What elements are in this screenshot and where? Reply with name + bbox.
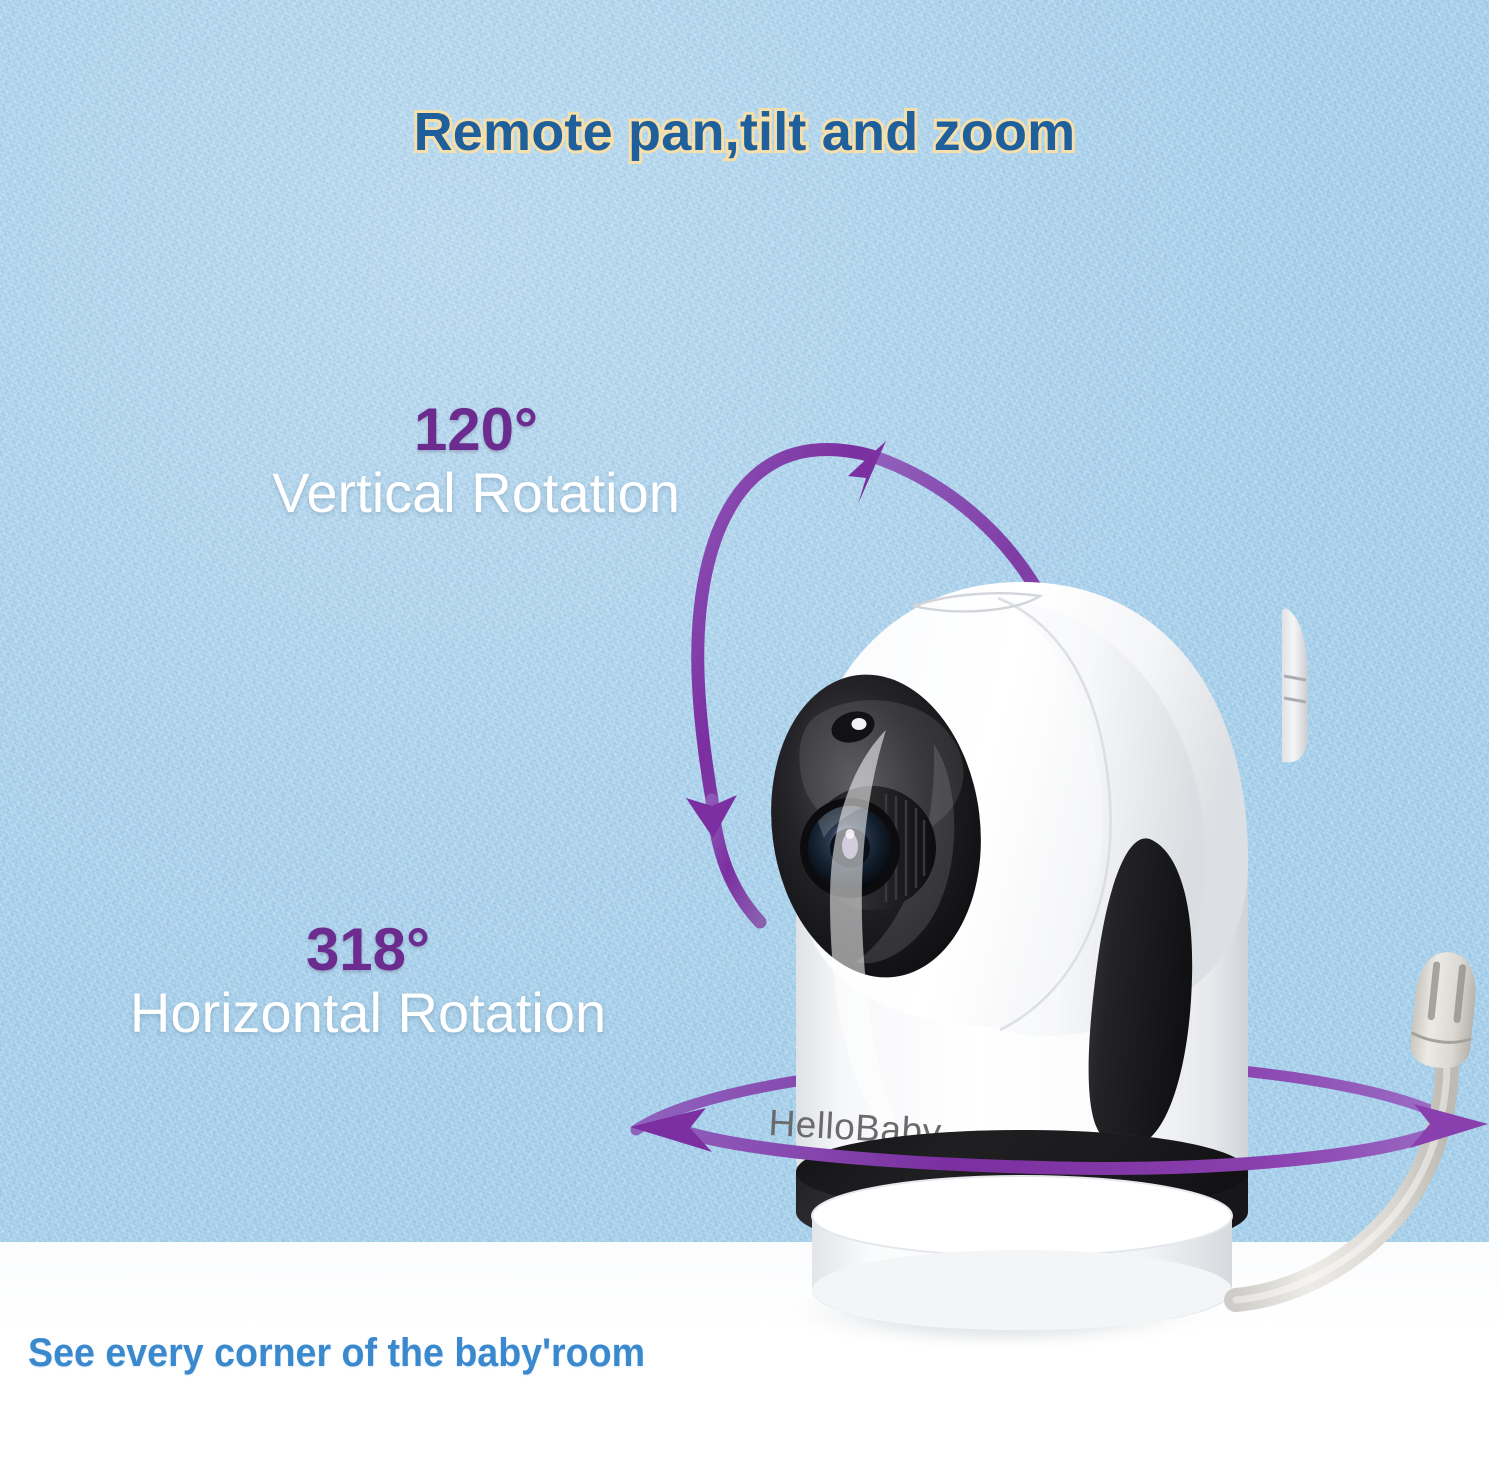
arrows-front-and-cable — [0, 0, 1500, 1467]
product-feature-image: Remote pan,tilt and zoom 120° Vertical R… — [0, 0, 1500, 1467]
horizontal-rotation-ellipse-front — [630, 1104, 1488, 1169]
